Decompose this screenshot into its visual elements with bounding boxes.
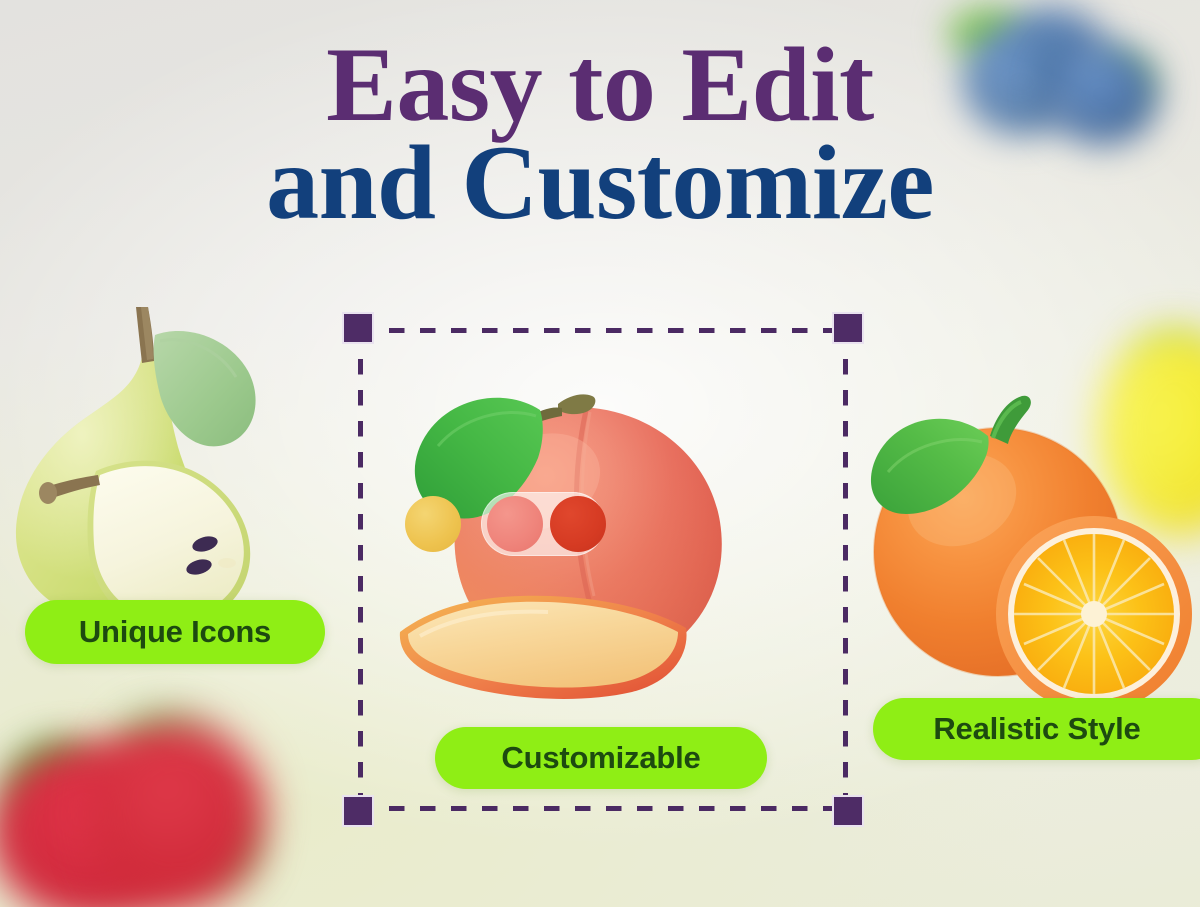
color-toggle-widget[interactable] xyxy=(405,492,605,556)
resize-handle-bottom-left[interactable] xyxy=(342,795,374,827)
badge-unique-icons[interactable]: Unique Icons xyxy=(25,600,325,664)
selection-edge-left xyxy=(358,328,363,811)
title-line-2: and Customize xyxy=(0,132,1200,234)
badge-customizable-label: Customizable xyxy=(501,740,700,776)
selection-edge-bottom xyxy=(358,806,848,811)
resize-handle-top-right[interactable] xyxy=(832,312,864,344)
red-swatch-icon[interactable] xyxy=(550,496,606,552)
resize-handle-top-left[interactable] xyxy=(342,312,374,344)
poster-canvas: Easy to Edit and Customize xyxy=(0,0,1200,907)
resize-handle-bottom-right[interactable] xyxy=(832,795,864,827)
badge-realistic-style[interactable]: Realistic Style xyxy=(873,698,1200,760)
selection-edge-right xyxy=(843,328,848,811)
badge-unique-icons-label: Unique Icons xyxy=(79,614,271,650)
orange-icon xyxy=(862,392,1200,702)
salmon-swatch-icon[interactable] xyxy=(487,496,543,552)
title-line-1: Easy to Edit xyxy=(0,34,1200,136)
pear-icon xyxy=(0,295,312,640)
page-title: Easy to Edit and Customize xyxy=(0,34,1200,234)
badge-realistic-style-label: Realistic Style xyxy=(933,711,1140,747)
badge-customizable[interactable]: Customizable xyxy=(435,727,767,789)
selection-edge-top xyxy=(358,328,848,333)
yellow-swatch-icon[interactable] xyxy=(405,496,461,552)
